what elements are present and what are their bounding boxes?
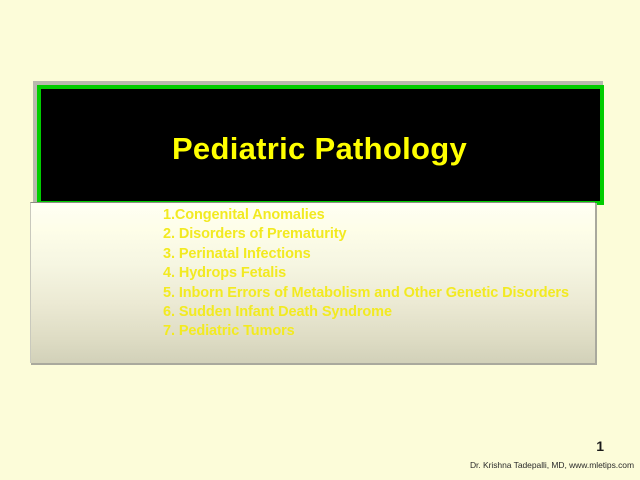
list-item[interactable]: 6. Sudden Infant Death Syndrome <box>163 303 583 322</box>
list-item-number: 7. <box>163 323 175 339</box>
list-item-label: Sudden Infant Death Syndrome <box>175 304 392 320</box>
list-item-number: 4. <box>163 265 175 281</box>
page-number: 1 <box>0 438 604 454</box>
list-item-label: Congenital Anomalies <box>175 207 325 223</box>
list-item-number: 6. <box>163 304 175 320</box>
list-item-label: Perinatal Infections <box>175 246 311 262</box>
page-title: Pediatric Pathology <box>41 133 600 164</box>
list-item[interactable]: 2. Disorders of Prematurity <box>163 225 583 244</box>
list-item-number: 2. <box>163 226 175 242</box>
list-item-number: 1. <box>163 207 175 223</box>
list-item[interactable]: 5. Inborn Errors of Metabolism and Other… <box>163 284 583 303</box>
list-item[interactable]: 4. Hydrops Fetalis <box>163 264 583 283</box>
title-box: Pediatric Pathology <box>37 85 604 205</box>
credit-line: Dr. Krishna Tadepalli, MD, www.mletips.c… <box>0 460 634 470</box>
list-item[interactable]: 7. Pediatric Tumors <box>163 322 583 341</box>
content-box: 1.Congenital Anomalies 2. Disorders of P… <box>30 202 595 363</box>
list-item[interactable]: 3. Perinatal Infections <box>163 245 583 264</box>
topic-list: 1.Congenital Anomalies 2. Disorders of P… <box>163 206 583 342</box>
list-item-number: 3. <box>163 246 175 262</box>
list-item-label: Inborn Errors of Metabolism and Other Ge… <box>175 285 569 301</box>
list-item-number: 5. <box>163 285 175 301</box>
list-item-label: Disorders of Prematurity <box>175 226 347 242</box>
list-item[interactable]: 1.Congenital Anomalies <box>163 206 583 225</box>
list-item-label: Hydrops Fetalis <box>175 265 286 281</box>
list-item-label: Pediatric Tumors <box>175 323 295 339</box>
slide-canvas: Pediatric Pathology 1.Congenital Anomali… <box>0 0 640 480</box>
